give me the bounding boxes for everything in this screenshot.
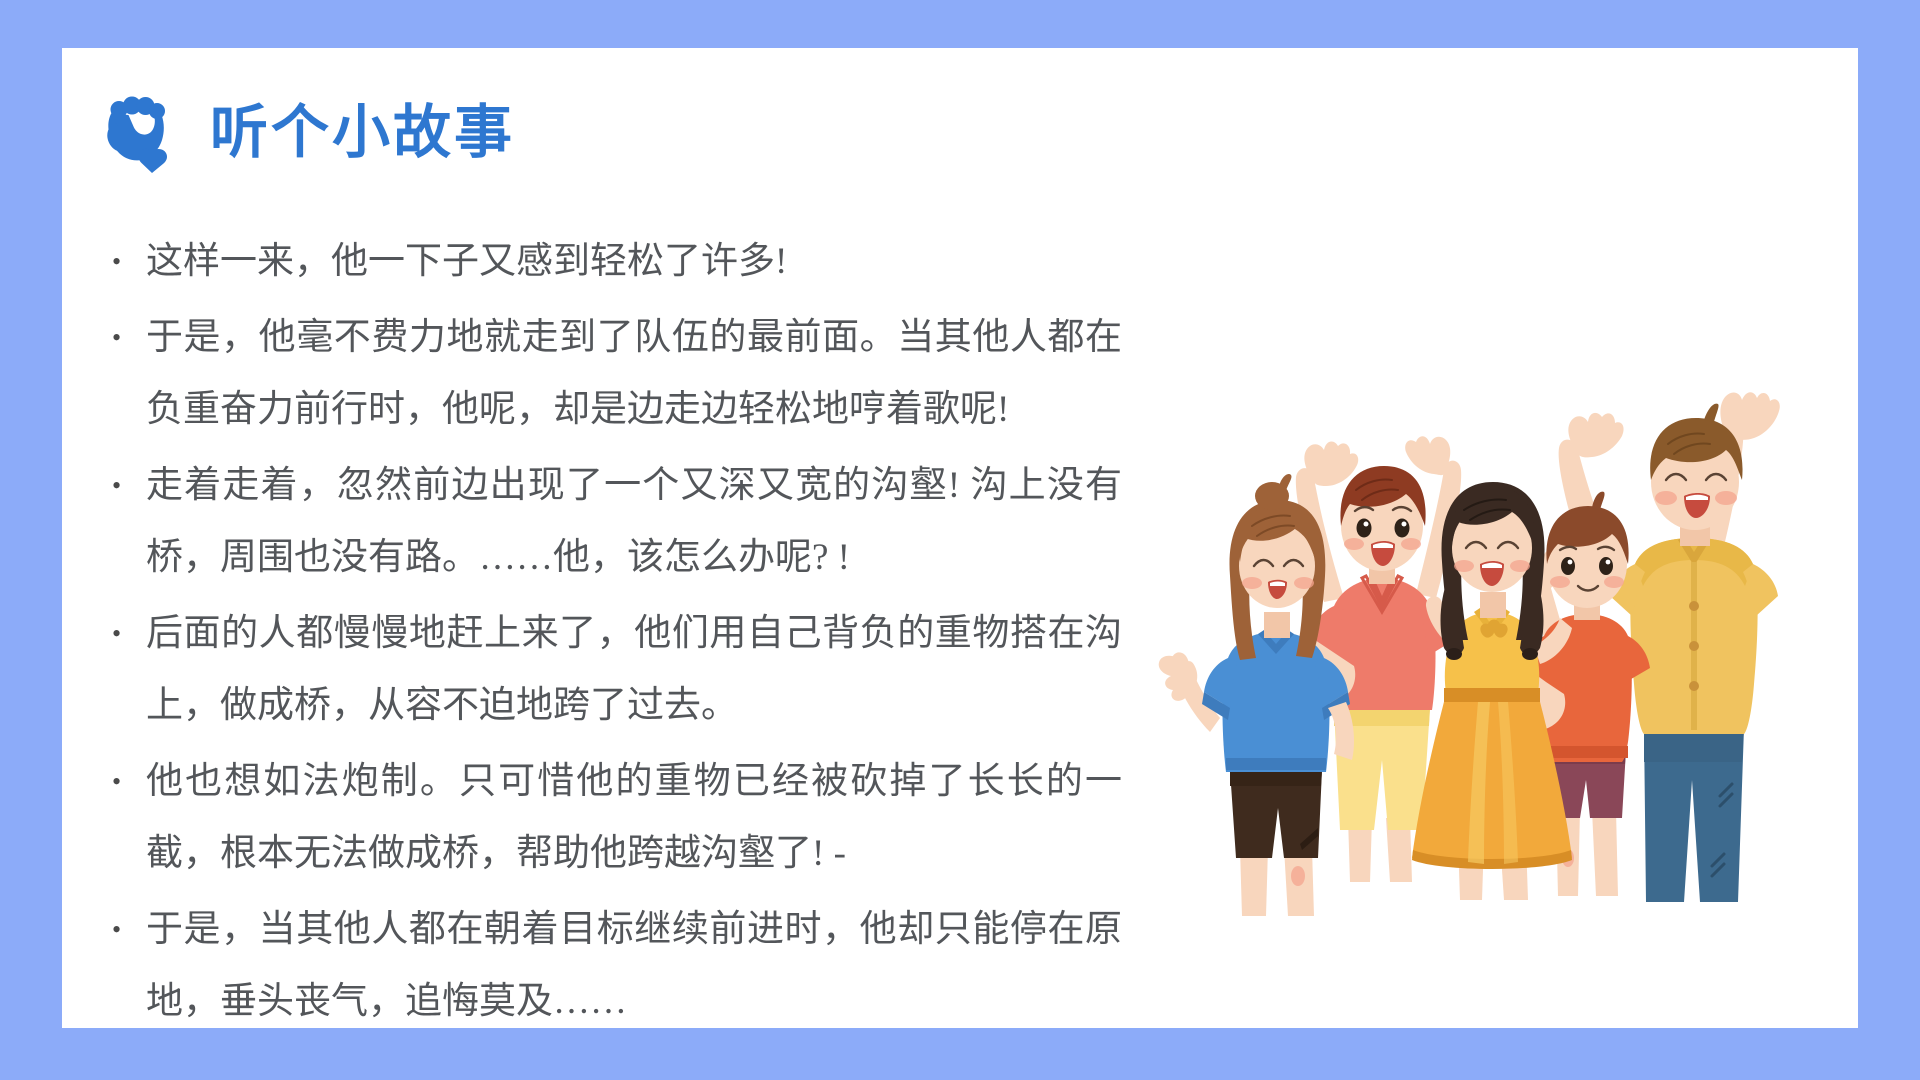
list-item-text: 他也想如法炮制。只可惜他的重物已经被砍掉了长长的一截，根本无法做成桥，帮助他跨越… (146, 746, 1122, 890)
list-item: • 于是，他毫不费力地就走到了队伍的最前面。当其他人都在负重奋力前行时，他呢，却… (102, 302, 1122, 446)
five-children-cheering-illustration: .sk { fill:#F8D6BD; } .sk2 { fill:#F2C6A… (1148, 310, 1808, 920)
page-title: 听个小故事 (210, 104, 515, 162)
list-item: • 后面的人都慢慢地赶上来了，他们用自己背负的重物搭在沟上，做成桥，从容不迫地跨… (102, 598, 1122, 742)
list-item-text: 走着走着，忽然前边出现了一个又深又宽的沟壑! 沟上没有桥，周围也没有路。……他，… (146, 450, 1122, 594)
bullet-marker: • (102, 746, 146, 818)
slide-card: 听个小故事 • 这样一来，他一下子又感到轻松了许多! • 于是，他毫不费力地就走… (62, 48, 1858, 1028)
slide-header: 听个小故事 (102, 90, 515, 176)
bullet-marker: • (102, 894, 146, 966)
list-item: • 于是，当其他人都在朝着目标继续前进时，他却只能停在原地，垂头丧气，追悔莫及…… (102, 894, 1122, 1028)
bullet-marker: • (102, 450, 146, 522)
list-item-text: 于是，当其他人都在朝着目标继续前进时，他却只能停在原地，垂头丧气，追悔莫及…… (146, 894, 1122, 1028)
bullet-marker: • (102, 302, 146, 374)
list-item: • 这样一来，他一下子又感到轻松了许多! (102, 226, 1122, 298)
list-item-text: 后面的人都慢慢地赶上来了，他们用自己背负的重物搭在沟上，做成桥，从容不迫地跨了过… (146, 598, 1122, 742)
bullet-marker: • (102, 226, 146, 298)
list-item-text: 于是，他毫不费力地就走到了队伍的最前面。当其他人都在负重奋力前行时，他呢，却是边… (146, 302, 1122, 446)
list-item: • 他也想如法炮制。只可惜他的重物已经被砍掉了长长的一截，根本无法做成桥，帮助他… (102, 746, 1122, 890)
bullet-marker: • (102, 598, 146, 670)
slide-canvas: 听个小故事 • 这样一来，他一下子又感到轻松了许多! • 于是，他毫不费力地就走… (0, 0, 1920, 1080)
list-item-text: 这样一来，他一下子又感到轻松了许多! (146, 226, 1122, 298)
fist-heart-icon (102, 93, 178, 173)
list-item: • 走着走着，忽然前边出现了一个又深又宽的沟壑! 沟上没有桥，周围也没有路。……… (102, 450, 1122, 594)
story-bullet-list: • 这样一来，他一下子又感到轻松了许多! • 于是，他毫不费力地就走到了队伍的最… (102, 226, 1122, 1028)
